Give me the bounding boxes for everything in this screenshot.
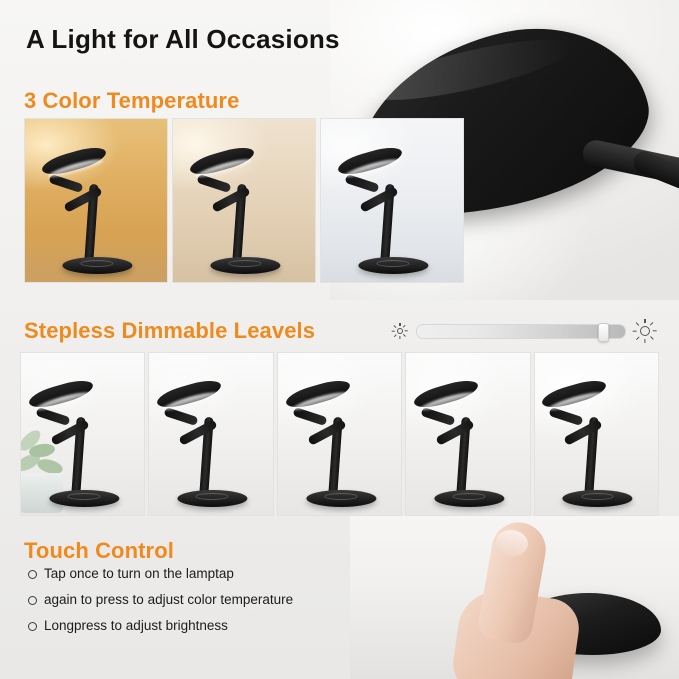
desk-lamp-illustration — [41, 154, 151, 274]
desk-lamp-illustration — [28, 387, 138, 507]
sun-high-icon — [634, 320, 656, 342]
brightness-slider-knob[interactable] — [598, 323, 609, 342]
color-temperature-swatch-natural — [172, 118, 316, 283]
desk-lamp-illustration — [156, 387, 266, 507]
bullet-dot-icon — [28, 596, 37, 605]
section-title-touch-control: Touch Control — [24, 538, 174, 564]
sun-low-icon — [392, 323, 408, 339]
list-item: Tap once to turn on the lamptap — [28, 566, 358, 583]
bullet-dot-icon — [28, 622, 37, 631]
brightness-slider-track[interactable] — [416, 324, 626, 339]
brightness-level-4 — [405, 352, 530, 516]
brightness-level-1 — [20, 352, 145, 516]
bullet-text: Longpress to adjust brightness — [44, 618, 228, 635]
color-temperature-swatch-warm — [24, 118, 168, 283]
desk-lamp-illustration — [413, 387, 523, 507]
lamp-base — [49, 490, 119, 507]
desk-lamp-illustration — [337, 154, 447, 274]
bullet-dot-icon — [28, 570, 37, 579]
list-item: again to press to adjust color temperatu… — [28, 592, 358, 609]
product-infographic: A Light for All Occasions 3 Color Temper… — [0, 0, 679, 679]
touch-control-bullet-list: Tap once to turn on the lamptap again to… — [28, 566, 358, 644]
desk-lamp-illustration — [541, 387, 651, 507]
color-temperature-swatch-cool — [320, 118, 464, 283]
page-title: A Light for All Occasions — [26, 24, 340, 55]
hand-illustration — [440, 522, 600, 679]
desk-lamp-illustration — [285, 387, 395, 507]
desk-lamp-illustration — [189, 154, 299, 274]
color-temperature-gallery — [24, 118, 465, 283]
bullet-text: Tap once to turn on the lamptap — [44, 566, 234, 583]
brightness-level-5 — [534, 352, 659, 516]
section-title-dimming: Stepless Dimmable Leavels — [24, 318, 315, 344]
bullet-text: again to press to adjust color temperatu… — [44, 592, 293, 609]
lamp-base — [434, 490, 504, 507]
lamp-base — [210, 257, 280, 274]
touch-control-photo — [350, 516, 679, 679]
brightness-level-3 — [277, 352, 402, 516]
lamp-base — [306, 490, 376, 507]
lamp-base — [62, 257, 132, 274]
brightness-slider-control[interactable] — [392, 318, 656, 344]
lamp-base — [178, 490, 248, 507]
lamp-base — [358, 257, 428, 274]
list-item: Longpress to adjust brightness — [28, 618, 358, 635]
brightness-level-gallery — [20, 352, 659, 516]
section-title-color-temperature: 3 Color Temperature — [24, 88, 239, 114]
lamp-base — [563, 490, 633, 507]
brightness-level-2 — [148, 352, 273, 516]
